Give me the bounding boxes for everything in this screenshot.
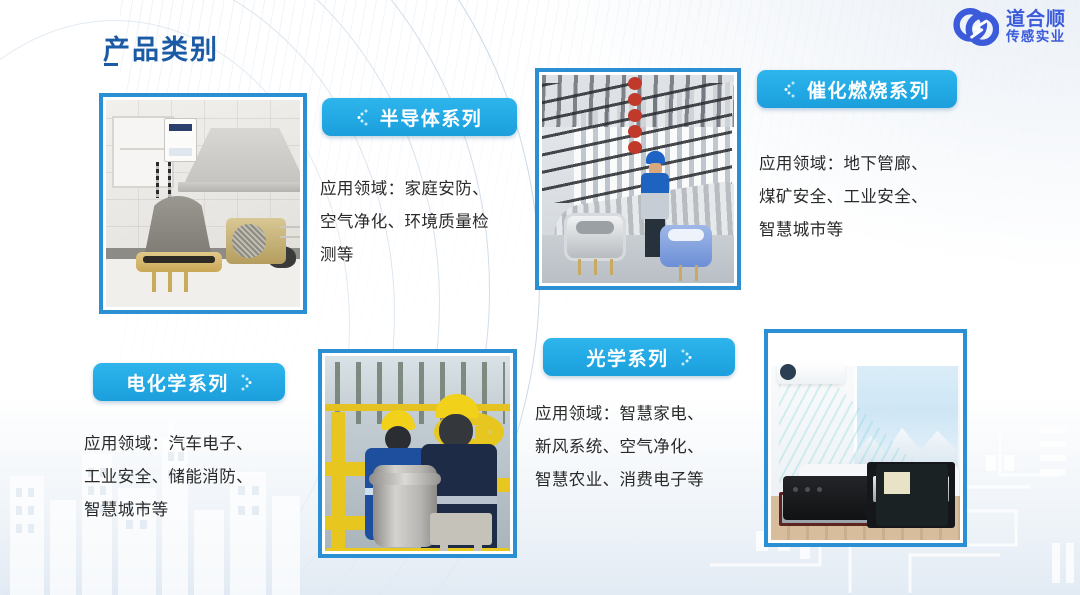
description-catalytic: 应用领域：地下管廊、 煤矿安全、工业安全、 智慧城市等	[759, 148, 979, 247]
badge-catalytic[interactable]: 催化燃烧系列	[757, 70, 957, 108]
badge-semiconductor[interactable]: 半导体系列	[322, 98, 517, 136]
desc-line: 空气净化、环境质量检	[320, 206, 535, 239]
badge-optical[interactable]: 光学系列	[543, 338, 735, 376]
desc-line: 智慧城市等	[84, 494, 304, 527]
chevron-right-icon	[239, 374, 252, 391]
badge-label: 电化学系列	[126, 369, 229, 396]
badge-label: 光学系列	[586, 344, 668, 371]
category-photo-optical	[764, 329, 967, 547]
desc-line: 应用领域：家庭安防、	[320, 173, 535, 206]
company-logo: 道合顺 传感实业	[953, 4, 1066, 50]
description-optical: 应用领域：智慧家电、 新风系统、空气净化、 智慧农业、消费电子等	[535, 398, 760, 497]
description-electrochemical: 应用领域：汽车电子、 工业安全、储能消防、 智慧城市等	[84, 428, 304, 527]
chevron-left-icon	[784, 81, 797, 98]
slide-canvas: 产品类别 道合顺 传感实业	[0, 0, 1080, 595]
desc-line: 智慧农业、消费电子等	[535, 464, 760, 497]
category-photo-electrochemical	[318, 349, 517, 558]
desc-line: 工业安全、储能消防、	[84, 461, 304, 494]
chevron-left-icon	[357, 109, 370, 126]
badge-label: 催化燃烧系列	[807, 76, 930, 103]
page-title-underline	[104, 63, 118, 66]
page-title: 产品类别	[103, 28, 219, 67]
logo-name-line1: 道合顺	[1006, 10, 1066, 29]
chevron-right-icon	[679, 349, 692, 366]
desc-line: 测等	[320, 239, 535, 272]
desc-line: 新风系统、空气净化、	[535, 431, 760, 464]
category-photo-semiconductor	[99, 93, 307, 314]
interlocking-rings-logo-icon	[953, 4, 999, 50]
category-photo-catalytic	[535, 68, 741, 290]
description-semiconductor: 应用领域：家庭安防、 空气净化、环境质量检 测等	[320, 173, 535, 272]
badge-electrochemical[interactable]: 电化学系列	[93, 363, 285, 401]
logo-name-line2: 传感实业	[1006, 30, 1066, 44]
desc-line: 应用领域：地下管廊、	[759, 148, 979, 181]
desc-line: 应用领域：智慧家电、	[535, 398, 760, 431]
desc-line: 智慧城市等	[759, 214, 979, 247]
badge-label: 半导体系列	[380, 104, 483, 131]
desc-line: 应用领域：汽车电子、	[84, 428, 304, 461]
desc-line: 煤矿安全、工业安全、	[759, 181, 979, 214]
